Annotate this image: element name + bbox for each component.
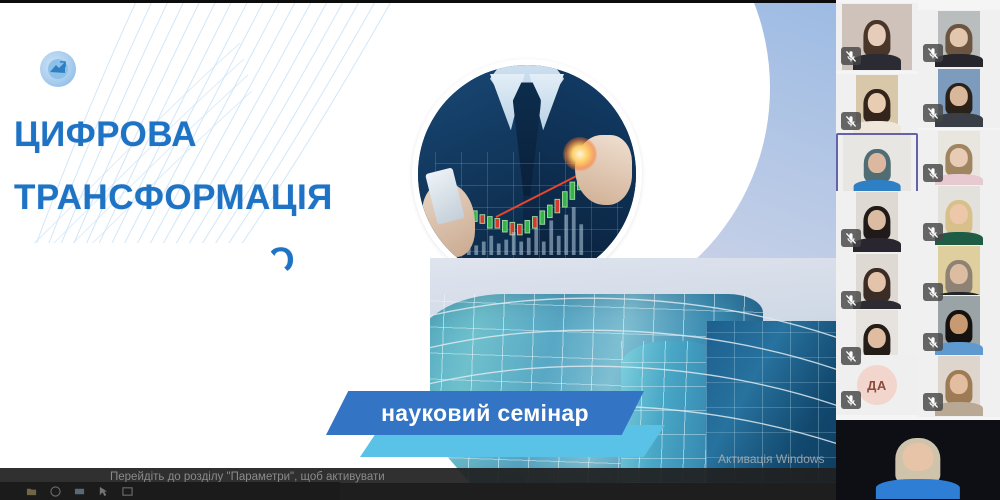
glow-highlight (563, 137, 597, 171)
window-icon[interactable] (122, 486, 133, 497)
seminar-banner: науковий семінар (326, 391, 644, 435)
participant-face (903, 443, 934, 471)
participant-face (950, 86, 968, 106)
businessman-chart-photo (418, 65, 636, 283)
mic-muted-badge (841, 112, 861, 130)
microphone-muted-icon (845, 115, 857, 128)
avatar: ДА (857, 365, 897, 405)
participant-rail[interactable]: ДА (836, 0, 1000, 500)
participant-face (868, 24, 886, 46)
microphone-muted-icon (845, 350, 857, 363)
participant-tile[interactable] (918, 185, 1000, 247)
participant-face (950, 264, 968, 284)
participant-video (837, 421, 999, 499)
microphone-muted-icon (927, 107, 939, 120)
participant-face (950, 374, 968, 394)
microphone-muted-icon (845, 394, 857, 407)
participant-face (868, 328, 886, 348)
participant-face (950, 148, 968, 167)
microphone-muted-icon (927, 396, 939, 409)
mic-muted-badge (841, 391, 861, 409)
participant-face (868, 210, 886, 230)
participant-tile[interactable] (836, 253, 918, 315)
file-explorer-icon[interactable] (26, 486, 37, 497)
microphone-muted-icon (845, 232, 857, 245)
participant-face (868, 272, 886, 292)
mic-muted-badge (923, 164, 943, 182)
participant-tile[interactable] (836, 191, 918, 253)
participant-face (950, 28, 968, 47)
microphone-muted-icon (845, 294, 857, 307)
microphone-muted-icon (927, 47, 939, 60)
browser-icon[interactable] (50, 486, 61, 497)
shared-content-stage[interactable]: ЦИФРОВА ТРАНСФОРМАЦІЯ БАНКІВСЬКОГО СЕКТО… (0, 0, 836, 500)
participant-tile[interactable] (836, 420, 1000, 500)
participant-tile[interactable] (836, 74, 918, 136)
windows-taskbar[interactable] (0, 482, 340, 500)
participant-torso (876, 479, 960, 499)
mic-muted-badge (923, 104, 943, 122)
mic-muted-badge (923, 393, 943, 411)
mic-muted-badge (923, 283, 943, 301)
participant-face (868, 93, 886, 113)
mic-muted-badge (841, 291, 861, 309)
presentation-slide: ЦИФРОВА ТРАНСФОРМАЦІЯ БАНКІВСЬКОГО СЕКТО… (0, 3, 836, 483)
mic-muted-badge (841, 347, 861, 365)
participant-tile[interactable] (836, 3, 918, 71)
participant-video (838, 135, 916, 194)
participant-face (950, 204, 968, 224)
institution-emblem-icon (40, 51, 76, 87)
microphone-muted-icon (927, 226, 939, 239)
participant-face (868, 153, 886, 173)
microphone-muted-icon (845, 50, 857, 63)
mic-muted-badge (841, 47, 861, 65)
participant-tile[interactable] (918, 68, 1000, 128)
hero-image-circle (412, 59, 642, 289)
participant-face (950, 314, 968, 334)
conference-screen: ЦИФРОВА ТРАНСФОРМАЦІЯ БАНКІВСЬКОГО СЕКТО… (0, 0, 1000, 500)
mic-muted-badge (923, 333, 943, 351)
participant-tile[interactable] (836, 133, 918, 196)
activation-title: Активація Windows (718, 452, 825, 466)
participant-tile[interactable] (918, 130, 1000, 188)
participant-tile[interactable] (918, 295, 1000, 357)
microphone-muted-icon (927, 336, 939, 349)
seminar-banner-label: науковий семінар (381, 400, 589, 427)
mic-muted-badge (923, 223, 943, 241)
microphone-muted-icon (927, 167, 939, 180)
participant-tile[interactable] (918, 10, 1000, 68)
participant-tile[interactable] (918, 355, 1000, 417)
microphone-muted-icon (927, 286, 939, 299)
mic-muted-badge (923, 44, 943, 62)
mail-icon[interactable] (74, 486, 85, 497)
mic-muted-badge (841, 229, 861, 247)
cursor-icon[interactable] (98, 486, 109, 497)
